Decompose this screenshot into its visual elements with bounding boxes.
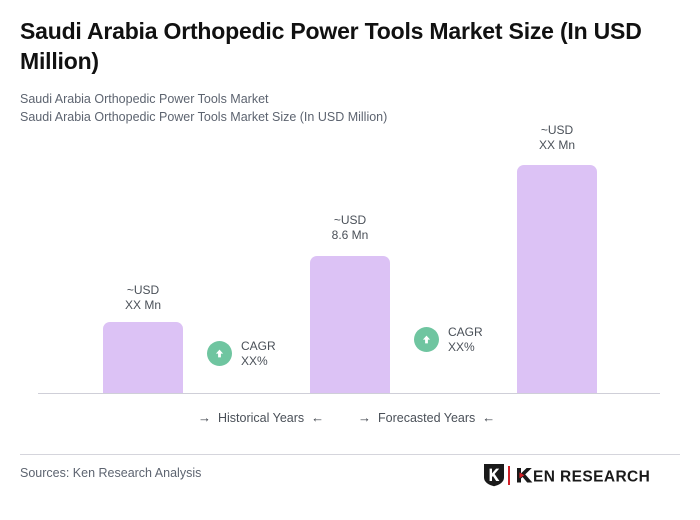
svg-text:EN RESEARCH: EN RESEARCH xyxy=(533,469,650,485)
bar-base-year xyxy=(310,256,390,393)
shield-k-icon xyxy=(483,463,505,487)
footer-divider xyxy=(20,454,680,455)
cagr-value-1: XX% xyxy=(241,354,276,369)
arrow-left-icon: ← xyxy=(311,410,324,425)
bar-value-label-2: ~USD 8.6 Mn xyxy=(295,213,405,242)
arrow-right-icon: → xyxy=(198,410,211,425)
bar-chart-plot: ~USD XX Mn ~USD 8.6 Mn ~USD XX Mn CAGR X… xyxy=(0,0,700,400)
bar-forecast xyxy=(517,165,597,393)
period-label-historical: Historical Years xyxy=(218,411,304,425)
bar-value-label-3-line2: XX Mn xyxy=(502,138,612,153)
cagr-badge-forecast-text: CAGR XX% xyxy=(448,325,483,354)
bar-value-label-2-line2: 8.6 Mn xyxy=(295,228,405,243)
chart-baseline-axis xyxy=(38,393,660,394)
bar-value-label-1-line2: XX Mn xyxy=(88,298,198,313)
cagr-badge-historical-text: CAGR XX% xyxy=(241,339,276,368)
cagr-label-1: CAGR xyxy=(241,339,276,354)
bar-historical xyxy=(103,322,183,393)
logo-separator-bar xyxy=(508,466,510,485)
cagr-value-2: XX% xyxy=(448,340,483,355)
bar-value-label-1: ~USD XX Mn xyxy=(88,283,198,312)
chart-card: Saudi Arabia Orthopedic Power Tools Mark… xyxy=(0,0,700,520)
bar-value-label-3-line1: ~USD xyxy=(502,123,612,138)
sources-text: Sources: Ken Research Analysis xyxy=(20,466,201,480)
bar-value-label-1-line1: ~USD xyxy=(88,283,198,298)
cagr-badge-historical: CAGR XX% xyxy=(207,339,276,368)
bar-value-label-3: ~USD XX Mn xyxy=(502,123,612,152)
period-caption-historical: → Historical Years ← xyxy=(198,410,324,425)
arrow-left-icon: ← xyxy=(482,410,495,425)
arrow-right-icon: → xyxy=(358,410,371,425)
period-caption-forecasted: → Forecasted Years ← xyxy=(358,410,495,425)
logo-wordmark: EN RESEARCH xyxy=(514,465,686,485)
arrow-up-icon xyxy=(207,341,232,366)
period-label-forecasted: Forecasted Years xyxy=(378,411,475,425)
ken-research-logo: EN RESEARCH xyxy=(483,463,686,487)
cagr-badge-forecast: CAGR XX% xyxy=(414,325,483,354)
bar-value-label-2-line1: ~USD xyxy=(295,213,405,228)
arrow-up-icon xyxy=(414,327,439,352)
cagr-label-2: CAGR xyxy=(448,325,483,340)
